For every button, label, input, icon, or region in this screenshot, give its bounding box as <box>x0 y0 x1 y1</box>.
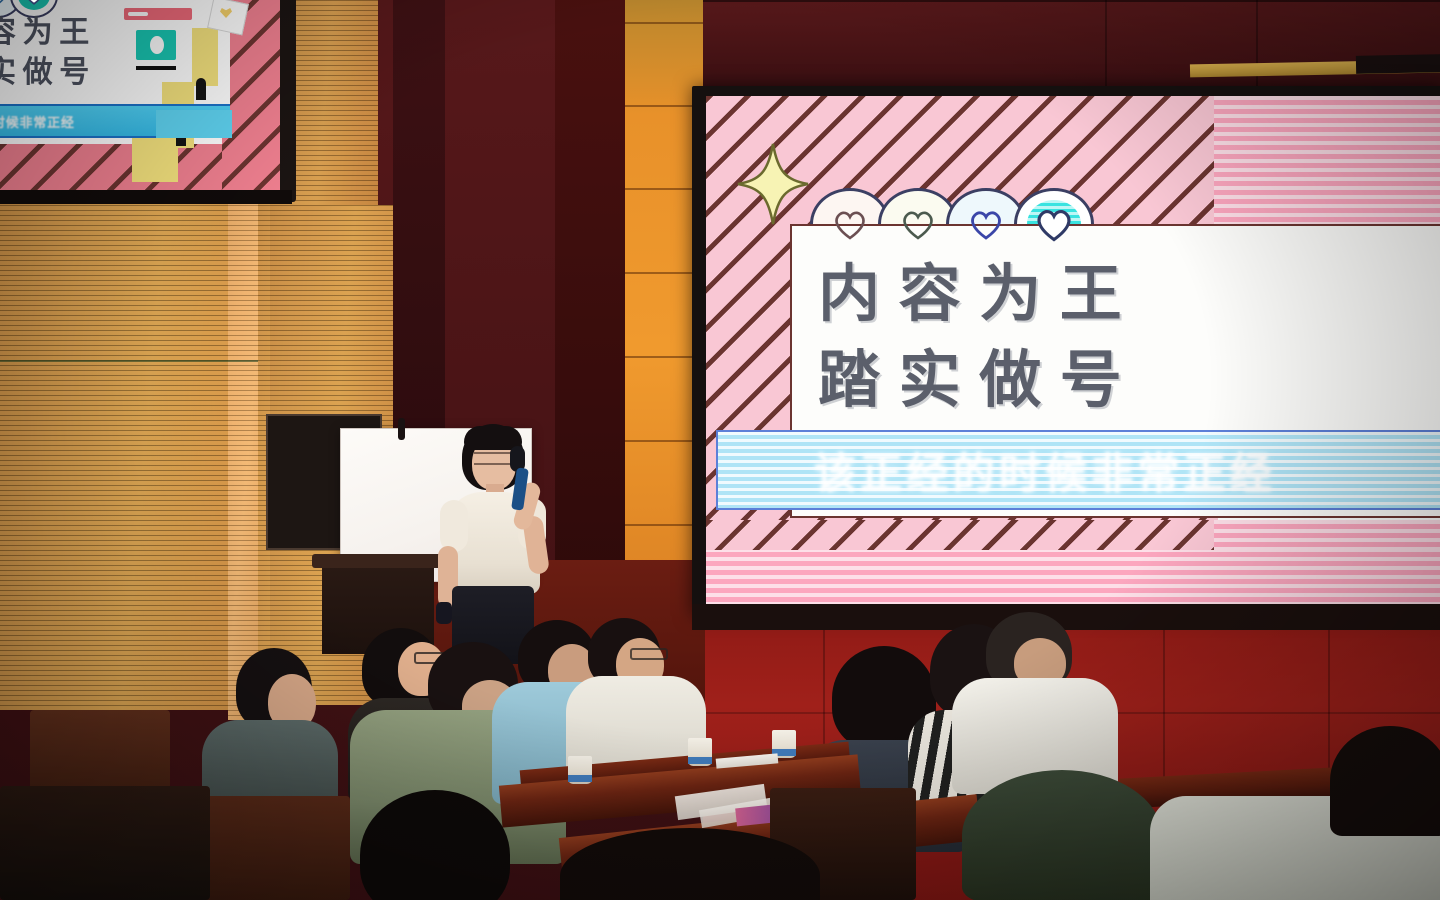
lectern-mic-arm <box>398 418 405 440</box>
monitor-illustration-doc-3 <box>132 134 178 182</box>
side-monitor-screen[interactable]: 容为王 实做号 时候非常正经 <box>0 0 280 190</box>
monitor-illustration-dots <box>128 12 148 16</box>
foreground-person-left <box>330 790 580 900</box>
heart-icon <box>968 208 1004 240</box>
led-screen[interactable]: 内容为王 踏实做号 该正经的时候非常正经 <box>706 96 1440 604</box>
sparkle-star-icon <box>736 142 810 226</box>
slide-subtitle-band: 该正经的时候非常正经 <box>716 430 1440 510</box>
slide-title-line2: 踏实做号 <box>818 346 1428 415</box>
speaker-hand-clicker <box>436 602 452 624</box>
conference-chair <box>0 786 210 900</box>
paper-cup <box>568 756 592 784</box>
hair <box>1330 726 1440 836</box>
paper-cup <box>688 738 712 766</box>
monitor-illustration-underline <box>136 66 176 70</box>
monitor-illustration-avatar <box>150 36 164 54</box>
heart-icon <box>24 0 44 5</box>
upper-wall-band <box>703 0 1440 88</box>
monitor-illustration-pin-1 <box>196 78 206 100</box>
heart-icon <box>0 0 8 5</box>
wall-seam <box>0 360 270 362</box>
hair <box>560 828 820 900</box>
foreground-person-dark-right <box>1330 726 1440 846</box>
monitor-title-line2: 实做号 <box>0 54 96 92</box>
hair-cap <box>962 770 1162 900</box>
slide-hatch-strip <box>706 520 1218 550</box>
slide-title-line1: 内容为王 <box>818 260 1428 329</box>
heart-icon <box>832 208 868 240</box>
wall-recess-column-2 <box>555 0 627 620</box>
upper-wall-seam <box>703 0 1440 2</box>
heart-icon <box>1034 206 1074 242</box>
heart-icon <box>900 208 936 240</box>
glasses-icon <box>630 648 668 660</box>
slide-subtitle-text: 该正经的时候非常正经 <box>718 440 1276 501</box>
monitor-bezel-bottom <box>0 190 292 204</box>
hair <box>360 790 510 900</box>
conference-chair <box>200 796 350 900</box>
speaker-glasses <box>474 452 514 465</box>
upper-wall-vseam <box>1105 0 1107 88</box>
monitor-illustration-doc-1 <box>192 28 218 86</box>
monitor-band-extension <box>156 110 232 138</box>
foreground-person-center <box>560 828 840 900</box>
slide-pink-strip-right <box>1214 520 1440 550</box>
presentation-hall-photo: 内容为王 踏实做号 该正经的时候非常正经 容为王 实 <box>0 0 1440 900</box>
monitor-subtitle-text: 时候非常正经 <box>0 112 75 131</box>
slide-pink-bottom-band <box>706 548 1440 604</box>
audience-member-a8-whiteshirt <box>962 612 1112 792</box>
monitor-title-line1: 容为王 <box>0 14 96 52</box>
speaker-left-sleeve <box>440 500 468 552</box>
wood-slat-wall <box>0 190 258 710</box>
trim-shadow <box>1356 54 1440 74</box>
